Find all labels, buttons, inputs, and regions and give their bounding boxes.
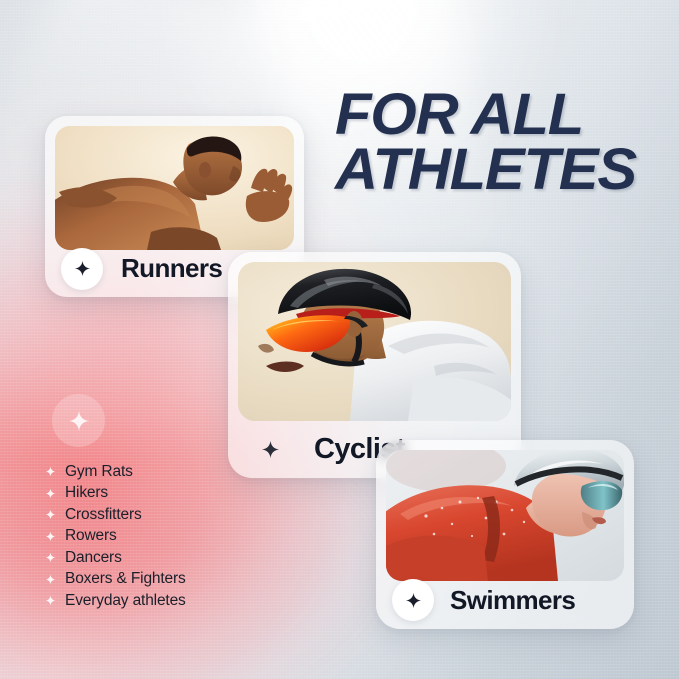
page-title-line-2: ATHLETES [335,143,665,198]
card-runners-photo [55,126,294,250]
sparkle-plus-icon [45,466,65,477]
list-item-label: Gym Rats [65,463,133,481]
list-item-label: Dancers [65,549,122,567]
sparkle-plus-icon [68,410,90,432]
athlete-type-list: Gym Rats Hikers Crossfitters Rowers Danc [45,461,305,612]
list-item-label: Boxers & Fighters [65,570,186,588]
sparkle-plus-icon [45,595,65,606]
cyclist-illustration [238,262,511,421]
swimmer-illustration [386,450,624,581]
list-item: Gym Rats [45,461,305,483]
poster-canvas: FOR ALL ATHLETES [0,0,679,679]
list-item: Boxers & Fighters [45,569,305,591]
page-title: FOR ALL ATHLETES [335,88,665,197]
decorative-sparkle-badge [52,394,105,447]
swimmers-badge[interactable] [392,579,434,621]
list-item: Everyday athletes [45,590,305,612]
list-item-label: Everyday athletes [65,592,186,610]
runner-figure-icon [55,126,294,250]
page-title-line-1: FOR ALL [335,88,665,143]
sparkle-plus-icon [45,509,65,520]
card-swimmers-photo [386,450,624,581]
list-item: Dancers [45,547,305,569]
sparkle-plus-icon [405,592,422,609]
list-item-label: Crossfitters [65,506,142,524]
sparkle-plus-icon [45,488,65,499]
sparkle-plus-icon [45,552,65,563]
runner-illustration [55,126,294,250]
card-swimmers-title: Swimmers [450,585,575,616]
list-item-label: Hikers [65,484,108,502]
sparkle-plus-icon [74,260,91,277]
list-item: Crossfitters [45,504,305,526]
cyclist-figure-icon [238,262,511,421]
list-item: Hikers [45,483,305,505]
card-swimmers[interactable]: Swimmers [376,440,634,629]
sparkle-plus-icon [45,531,65,542]
card-cyclist-photo [238,262,511,421]
sparkle-plus-icon [45,574,65,585]
card-runners-title: Runners [121,253,222,284]
card-swimmers-label: Swimmers [376,571,634,629]
list-item-label: Rowers [65,527,117,545]
sparkle-plus-icon [261,440,280,459]
runners-badge[interactable] [61,248,103,290]
list-item: Rowers [45,526,305,548]
swimmer-figure-icon [386,450,624,581]
